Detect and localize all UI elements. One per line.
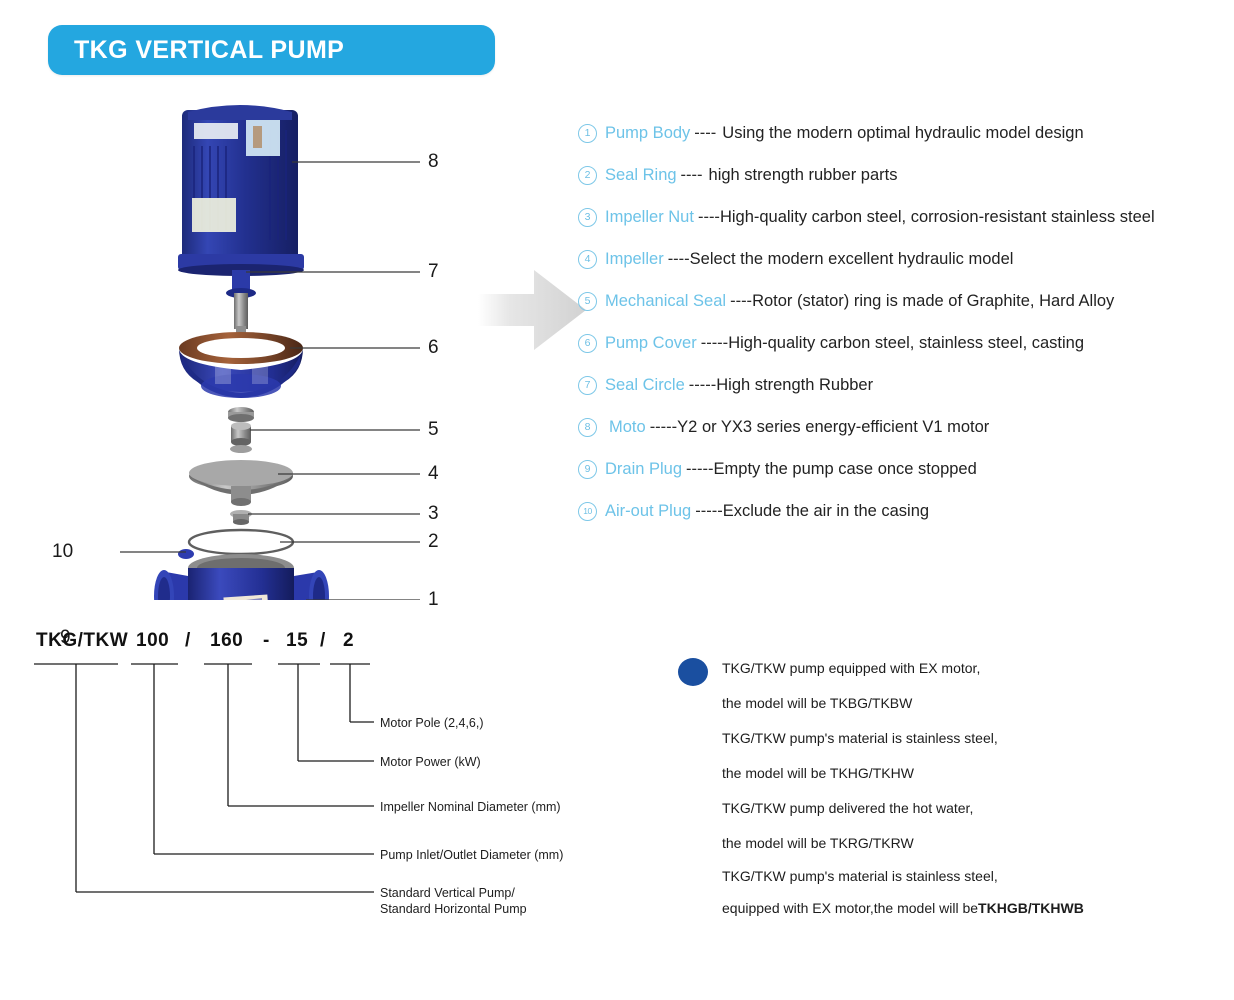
exploded-pump-diagram: 8 7 6 5 4 3 2 1 10 9	[120, 90, 480, 600]
model-label-motor-pole: Motor Pole (2,4,6,)	[380, 715, 484, 732]
callout-number-6: 6	[428, 337, 439, 359]
legend-description: Using the modern optimal hydraulic model…	[722, 124, 1083, 143]
callout-number-2: 2	[428, 531, 439, 553]
legend-dash: -----	[695, 502, 722, 521]
callout-number-7: 7	[428, 261, 439, 283]
legend-item-air-out-plug: 10 Air-out Plug ----- Exclude the air in…	[578, 502, 1228, 544]
legend-item-impeller: 4 Impeller ---- Select the modern excell…	[578, 250, 1228, 292]
note-line: TKG/TKW pump equipped with EX motor,	[722, 650, 1218, 685]
legend-part-name: Impeller	[605, 250, 664, 269]
legend-part-name: Impeller Nut	[605, 208, 694, 227]
legend-dash: ----	[698, 208, 720, 227]
callout-number-10: 10	[52, 541, 73, 563]
legend-part-name: Air-out Plug	[605, 502, 691, 521]
model-code-breakdown: TKG/TKW 100 / 160 - 15 / 2	[30, 630, 630, 960]
model-breakdown-leader-lines	[30, 630, 630, 960]
legend-item-pump-cover: 6 Pump Cover ----- High-quality carbon s…	[578, 334, 1228, 376]
legend-number-icon: 3	[578, 208, 597, 227]
legend-description: high strength rubber parts	[709, 166, 898, 185]
legend-dash: ----	[694, 124, 716, 143]
legend-number-icon: 6	[578, 334, 597, 353]
legend-part-name: Pump Body	[605, 124, 690, 143]
legend-number-icon: 2	[578, 166, 597, 185]
legend-description: Exclude the air in the casing	[723, 502, 929, 521]
parts-legend: 1 Pump Body ---- Using the modern optima…	[578, 124, 1228, 544]
note-line-with-model: equipped with EX motor,the model will be…	[722, 892, 1218, 924]
legend-number-icon: 9	[578, 460, 597, 479]
legend-description: Y2 or YX3 series energy-efficient V1 mot…	[677, 418, 989, 437]
legend-dash: ----	[681, 166, 703, 185]
model-label-motor-power: Motor Power (kW)	[380, 754, 481, 771]
legend-description: High-quality carbon steel, corrosion-res…	[720, 208, 1155, 227]
legend-part-name: Pump Cover	[605, 334, 697, 353]
legend-description: Empty the pump case once stopped	[714, 460, 977, 479]
legend-item-seal-ring: 2 Seal Ring ---- high strength rubber pa…	[578, 166, 1228, 208]
legend-number-icon: 8	[578, 418, 597, 437]
note-line: TKG/TKW pump's material is stainless ste…	[722, 720, 1218, 755]
legend-item-drain-plug: 9 Drain Plug ----- Empty the pump case o…	[578, 460, 1228, 502]
note-line: the model will be TKRG/TKRW	[722, 825, 1218, 860]
callout-number-1: 1	[428, 589, 439, 611]
legend-item-mechanical-seal: 5 Mechanical Seal ---- Rotor (stator) ri…	[578, 292, 1228, 334]
note-line: the model will be TKBG/TKBW	[722, 685, 1218, 720]
note-text: equipped with EX motor,the model will be	[722, 900, 978, 916]
note-model-code: TKHGB/TKHWB	[978, 900, 1084, 916]
legend-item-moto: 8 Moto ----- Y2 or YX3 series energy-eff…	[578, 418, 1228, 460]
legend-part-name: Mechanical Seal	[605, 292, 726, 311]
legend-description: Rotor (stator) ring is made of Graphite,…	[752, 292, 1114, 311]
callout-number-8: 8	[428, 151, 439, 173]
legend-number-icon: 10	[578, 502, 597, 521]
bullet-dot-icon	[678, 658, 708, 686]
legend-dash: -----	[650, 418, 677, 437]
legend-item-seal-circle: 7 Seal Circle ----- High strength Rubber	[578, 376, 1228, 418]
legend-part-name: Drain Plug	[605, 460, 682, 479]
model-variant-notes: TKG/TKW pump equipped with EX motor, the…	[678, 650, 1218, 924]
legend-part-name: Seal Circle	[605, 376, 685, 395]
model-label-standard-vertical: Standard Vertical Pump/	[380, 885, 515, 902]
callout-number-4: 4	[428, 463, 439, 485]
legend-description: Select the modern excellent hydraulic mo…	[690, 250, 1014, 269]
model-label-standard-horizontal: Standard Horizontal Pump	[380, 901, 527, 918]
model-label-impeller-diam: Impeller Nominal Diameter (mm)	[380, 799, 561, 816]
legend-item-impeller-nut: 3 Impeller Nut ---- High-quality carbon …	[578, 208, 1228, 250]
callout-number-5: 5	[428, 419, 439, 441]
callout-number-3: 3	[428, 503, 439, 525]
legend-part-name: Seal Ring	[605, 166, 677, 185]
page-title-banner: TKG VERTICAL PUMP	[48, 25, 495, 75]
legend-dash: ----	[668, 250, 690, 269]
legend-part-name: Moto	[609, 418, 646, 437]
model-label-inlet-diam: Pump Inlet/Outlet Diameter (mm)	[380, 847, 563, 864]
legend-description: High-quality carbon steel, stainless ste…	[728, 334, 1084, 353]
legend-item-pump-body: 1 Pump Body ---- Using the modern optima…	[578, 124, 1228, 166]
legend-number-icon: 5	[578, 292, 597, 311]
legend-number-icon: 1	[578, 124, 597, 143]
datasheet-page: TKG VERTICAL PUMP	[0, 0, 1234, 1000]
legend-dash: -----	[701, 334, 728, 353]
page-title: TKG VERTICAL PUMP	[74, 36, 344, 65]
note-line: the model will be TKHG/TKHW	[722, 755, 1218, 790]
note-line: TKG/TKW pump's material is stainless ste…	[722, 860, 1218, 892]
legend-dash: -----	[689, 376, 716, 395]
legend-number-icon: 7	[578, 376, 597, 395]
legend-dash: ----	[730, 292, 752, 311]
note-line: TKG/TKW pump delivered the hot water,	[722, 790, 1218, 825]
legend-dash: -----	[686, 460, 713, 479]
legend-number-icon: 4	[578, 250, 597, 269]
legend-description: High strength Rubber	[716, 376, 873, 395]
flow-arrow	[478, 258, 590, 362]
